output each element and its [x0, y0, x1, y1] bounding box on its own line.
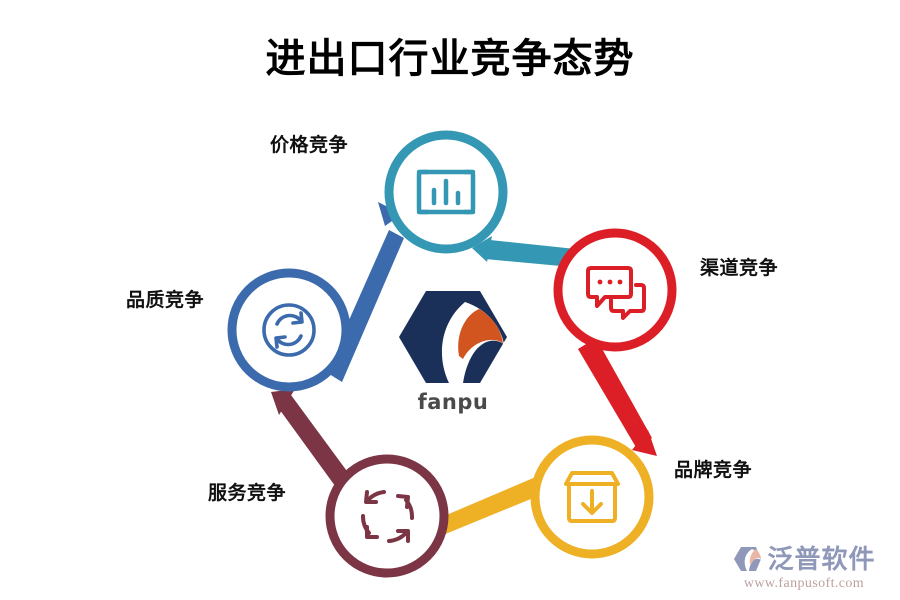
node-channel-ring[interactable] — [558, 233, 672, 347]
node-label-price: 价格竞争 — [270, 130, 348, 157]
connector-service-to-quality — [271, 389, 352, 490]
node-label-quality: 品质竞争 — [126, 285, 204, 312]
node-label-brand: 品牌竞争 — [674, 455, 752, 482]
center-logo: fanpu — [393, 288, 513, 418]
node-label-service: 服务竞争 — [208, 478, 286, 505]
node-service-ring[interactable] — [330, 459, 444, 573]
node-quality-ring[interactable] — [232, 273, 346, 387]
node-price[interactable] — [389, 135, 503, 249]
fanpu-hexagon-logo-icon — [393, 288, 513, 386]
diagram-canvas: 进出口行业竞争态势 — [0, 0, 900, 600]
node-label-channel: 渠道竞争 — [700, 253, 778, 280]
watermark: 泛普软件 www.fanpusoft.com — [720, 545, 888, 592]
fanpusoft-logo-icon — [732, 545, 762, 573]
watermark-brand: 泛普软件 — [767, 546, 875, 572]
node-service[interactable] — [330, 459, 444, 573]
node-channel[interactable] — [558, 233, 672, 347]
watermark-url: www.fanpusoft.com — [720, 576, 888, 592]
node-brand[interactable] — [535, 440, 649, 554]
node-quality[interactable] — [232, 273, 346, 387]
center-logo-text: fanpu — [393, 390, 513, 414]
